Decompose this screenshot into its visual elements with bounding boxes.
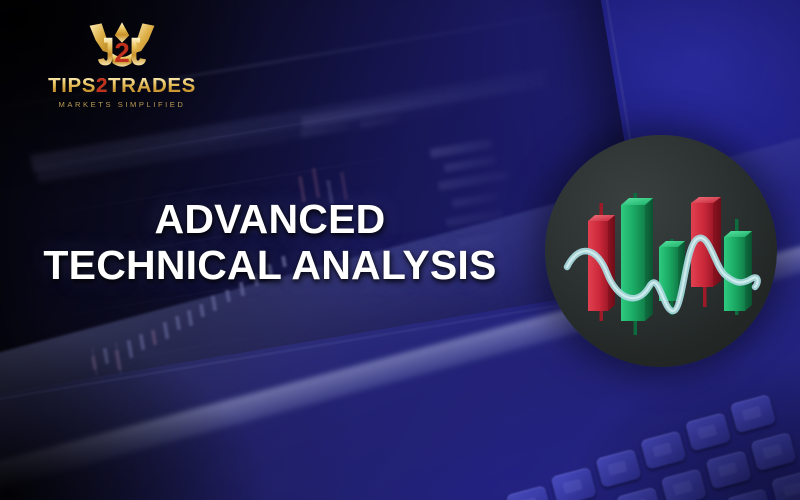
candle-4-bearish: [691, 197, 721, 307]
logo-word-part1: TIPS: [48, 74, 96, 97]
tips2trades-logo[interactable]: 2 TIPS2TRADES MARKETS SIMPLIFIED: [34, 22, 210, 109]
svg-text:2: 2: [114, 37, 129, 68]
page-title: ADVANCED TECHNICAL ANALYSIS: [0, 196, 540, 289]
candle-2-bullish: [621, 193, 653, 335]
candlestick-chart-badge: [545, 135, 777, 367]
logo-tagline: MARKETS SIMPLIFIED: [34, 100, 210, 109]
logo-word-part2: TRADES: [108, 74, 196, 97]
logo-word-accent: 2: [96, 74, 108, 97]
candle-5-bullish: [724, 219, 752, 315]
headline-line-2: TECHNICAL ANALYSIS: [0, 242, 540, 288]
logo-wordmark: TIPS2TRADES: [34, 76, 210, 97]
bull-head-icon: 2: [86, 22, 158, 74]
headline-line-1: ADVANCED: [0, 196, 540, 242]
promotional-banner: 2 TIPS2TRADES MARKETS SIMPLIFIED ADVANCE…: [0, 0, 800, 500]
